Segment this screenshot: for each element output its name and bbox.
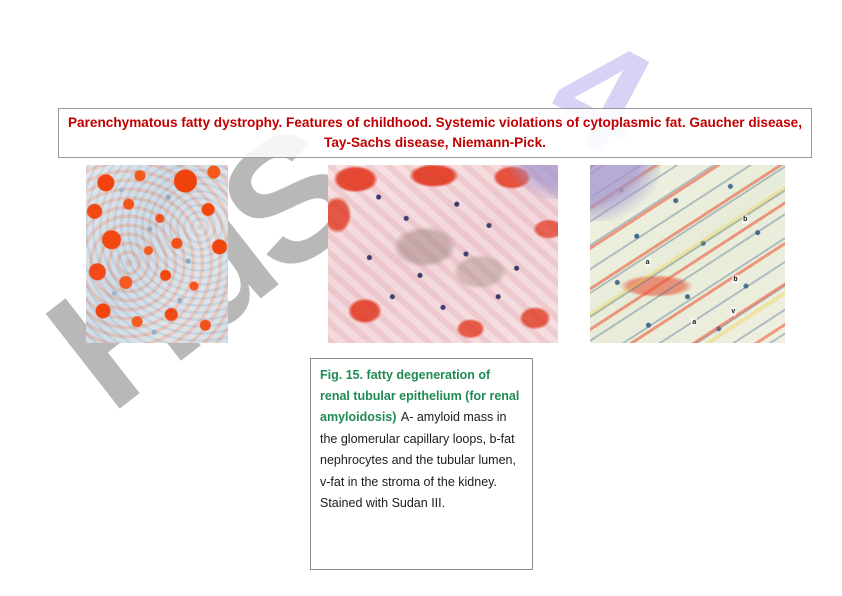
figure-label-a2: a bbox=[691, 318, 697, 327]
slide-title-box: Parenchymatous fatty dystrophy. Features… bbox=[58, 108, 812, 158]
figure-label-b1: b bbox=[742, 215, 748, 224]
figure-caption-body: A- amyloid mass in the glomerular capill… bbox=[320, 410, 516, 510]
fatty-dystrophy-liver-micrograph bbox=[86, 165, 228, 343]
fatty-stroma-micrograph: a b b v a bbox=[590, 165, 785, 343]
figure-caption-box: Fig. 15. fatty degeneration of renal tub… bbox=[310, 358, 533, 570]
figure-label-v1: v bbox=[730, 307, 736, 316]
slide-title: Parenchymatous fatty dystrophy. Features… bbox=[59, 113, 811, 153]
figure-label-a1: a bbox=[645, 258, 651, 267]
figure-label-b2: b bbox=[732, 275, 738, 284]
renal-amyloidosis-micrograph bbox=[328, 165, 558, 343]
